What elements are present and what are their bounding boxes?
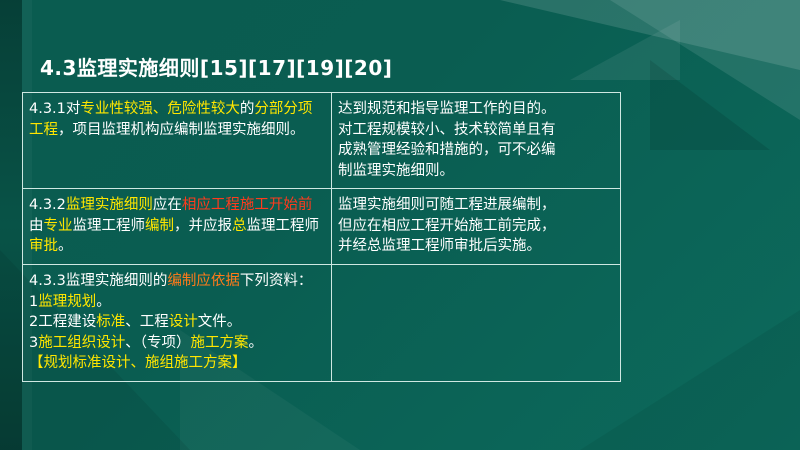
rule-432-seg4: 相应工程施 — [182, 197, 255, 213]
rule-432-seg9: 编制 — [145, 218, 174, 234]
rule-432-seg15: 。 — [58, 238, 73, 254]
table-row: 4.3.2监理实施细则应在相应工程施工开始前由专业监理工程师编制，并应报总监理工… — [23, 189, 621, 265]
rule-433-l4d: 、（专项） — [125, 335, 190, 351]
table-cell-rule-433: 4.3.3监理实施细则的编制应依据下列资料： 1监理规划。 2工程建设标准、工程… — [23, 265, 332, 382]
rule-432-seg7: 专业 — [44, 218, 73, 234]
rule-433-l4b: 施工 — [38, 335, 67, 351]
rule-433-l3e: 文件。 — [198, 314, 242, 330]
rule-433-l3c: 、工程 — [125, 314, 169, 330]
rule-433-l1a: 4.3.3 — [29, 273, 66, 289]
decorative-left-band — [0, 0, 22, 450]
rule-433-l4e: 施工 — [190, 335, 219, 351]
rule-431-seg5: ，项目监理机构应编 — [58, 122, 189, 138]
content-table: 4.3.1对专业性较强、危险性较大的分部分项工程，项目监理机构应编制监理实施细则… — [22, 92, 621, 382]
rule-431-seg3: 的 — [240, 101, 255, 117]
table-cell-rule-431: 4.3.1对专业性较强、危险性较大的分部分项工程，项目监理机构应编制监理实施细则… — [23, 93, 332, 189]
rule-433-l4c: 组织设计 — [67, 335, 125, 351]
page-title: 4.3监理实施细则[15][17][19][20] — [40, 52, 392, 81]
rule-433-line3: 2工程建设标准、工程设计文件。 — [29, 312, 325, 333]
rule-433-l4f: 方案 — [219, 335, 248, 351]
rule-433-l4a: 3 — [29, 335, 38, 351]
note-431-line1: 达到规范和指导监理工作的目的。 — [338, 99, 614, 120]
rule-433-l3d: 设计 — [169, 314, 198, 330]
rule-432-seg14: 审批 — [29, 238, 58, 254]
rule-433-l2b: 监理规划 — [38, 294, 96, 310]
rule-432-seg8: 监理工程师 — [73, 218, 146, 234]
rule-432-seg13: 监理工程师 — [247, 218, 320, 234]
rule-433-l1d: 下列资料： — [240, 273, 313, 289]
rule-433-summary: 【规划标准设计、施组施工方案】 — [29, 353, 325, 374]
table-cell-note-433 — [332, 265, 621, 382]
rule-433-line2: 1监理规划。 — [29, 292, 325, 313]
note-431-line3: 成熟管理经验和措施的，可不必编 — [338, 140, 614, 161]
table-cell-rule-432: 4.3.2监理实施细则应在相应工程施工开始前由专业监理工程师编制，并应报总监理工… — [23, 189, 332, 265]
table-cell-note-432: 监理实施细则可随工程进展编制， 但应在相应工程开始施工前完成， 并经总监理工程师… — [332, 189, 621, 265]
rule-433-line4: 3施工组织设计、（专项）施工方案。 — [29, 333, 325, 354]
rule-431-seg6: 制监理实施细则 — [189, 122, 291, 138]
rule-432-seg12: 总 — [232, 218, 247, 234]
rule-431-seg1: 4.3.1对 — [29, 101, 80, 117]
table-row: 4.3.3监理实施细则的编制应依据下列资料： 1监理规划。 2工程建设标准、工程… — [23, 265, 621, 382]
slide: 4.3监理实施细则[15][17][19][20] 4.3.1对专业性较强、危险… — [0, 0, 800, 450]
table-cell-note-431: 达到规范和指导监理工作的目的。 对工程规模较小、技术较简单且有 成熟管理经验和措… — [332, 93, 621, 189]
rule-432-seg6: 由 — [29, 218, 44, 234]
note-432-line1: 监理实施细则可随工程进展编制， — [338, 195, 614, 216]
note-432-line3: 并经总监理工程师审批后实施。 — [338, 236, 614, 257]
rule-432-seg11: 并应报 — [189, 218, 233, 234]
rule-432-seg2: 监理实施细则 — [66, 197, 153, 213]
table-row: 4.3.1对专业性较强、危险性较大的分部分项工程，项目监理机构应编制监理实施细则… — [23, 93, 621, 189]
rule-433-l2a: 1 — [29, 294, 38, 310]
decorative-polygon-top-right-3 — [570, 20, 680, 80]
rule-433-l4g: 。 — [248, 335, 263, 351]
rule-431-text: 4.3.1对专业性较强、危险性较大的分部分项工程，项目监理机构应编制监理实施细则… — [29, 99, 325, 140]
decorative-polygon-top-right-2 — [610, 0, 800, 120]
rule-432-seg10: ， — [174, 218, 189, 234]
note-432-line2: 但应在相应工程开始施工前完成， — [338, 216, 614, 237]
rule-432-text: 4.3.2监理实施细则应在相应工程施工开始前由专业监理工程师编制，并应报总监理工… — [29, 195, 325, 257]
rule-433-l3a: 2工程建设 — [29, 314, 96, 330]
decorative-polygon-top-right-4 — [650, 60, 770, 150]
rule-431-seg2: 专业性较强、危险性较大 — [80, 101, 240, 117]
rule-433-l3b: 标准 — [96, 314, 125, 330]
rule-433-l1b: 监理实施细则的 — [66, 273, 168, 289]
rule-433-line1: 4.3.3监理实施细则的编制应依据下列资料： — [29, 271, 325, 292]
rule-433-l2c: 。 — [96, 294, 111, 310]
rule-433-l1c: 编制应依据 — [167, 273, 240, 289]
rule-431-seg7: 。 — [290, 122, 305, 138]
rule-432-seg1: 4.3.2 — [29, 197, 66, 213]
note-431-line2: 对工程规模较小、技术较简单且有 — [338, 120, 614, 141]
rule-432-seg3: 应在 — [153, 197, 182, 213]
note-431-line4: 制监理实施细则。 — [338, 161, 614, 182]
rule-432-seg5: 工开始前 — [254, 197, 312, 213]
decorative-polygon-top-right-1 — [500, 0, 800, 70]
